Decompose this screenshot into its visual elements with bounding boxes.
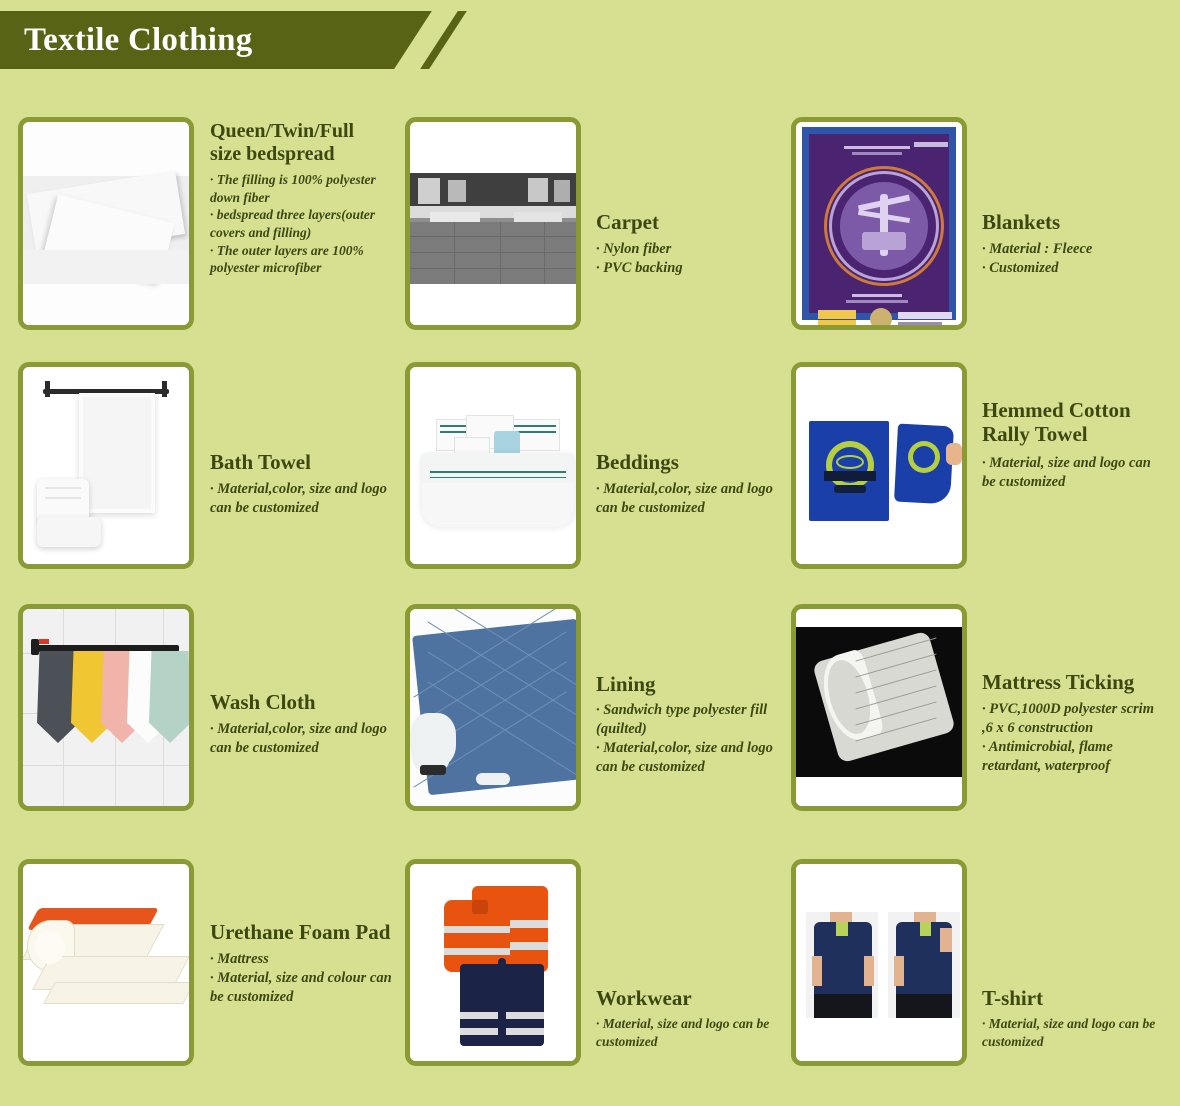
product-title: Carpet xyxy=(596,210,772,234)
bedspread-image xyxy=(23,122,189,325)
product-description: · Nylon fiber · PVC backing xyxy=(596,240,772,278)
product-description: · The filling is 100% polyester down fib… xyxy=(210,171,378,276)
product-image-frame xyxy=(18,604,194,811)
mattress-ticking-image xyxy=(796,609,962,806)
product-image-frame xyxy=(18,859,194,1066)
product-description: · Material,color, size and logo can be c… xyxy=(210,480,390,518)
blankets-image xyxy=(796,122,962,325)
product-title: Mattress Ticking xyxy=(982,670,1166,694)
product-image-frame xyxy=(405,859,581,1066)
product-title: T-shirt xyxy=(982,986,1162,1010)
carpet-image xyxy=(410,122,576,325)
product-title: Beddings xyxy=(596,450,776,474)
wash-cloth-image xyxy=(23,609,189,806)
product-title: Workwear xyxy=(596,986,776,1010)
product-description: · Material, size and logo can be customi… xyxy=(596,1015,776,1050)
lining-image xyxy=(410,609,576,806)
product-image-frame xyxy=(791,604,967,811)
product-title: Bath Towel xyxy=(210,450,390,474)
product-title: Lining xyxy=(596,672,778,696)
product-image-frame xyxy=(791,117,967,330)
product-image-frame xyxy=(405,604,581,811)
product-title: Hemmed Cotton Rally Towel xyxy=(982,398,1162,447)
product-image-frame xyxy=(405,117,581,330)
rally-towel-image xyxy=(796,367,962,564)
product-description: · Sandwich type polyester fill (quilted)… xyxy=(596,701,778,776)
product-description: · Material,color, size and logo can be c… xyxy=(596,480,776,518)
workwear-image xyxy=(410,864,576,1061)
product-image-frame xyxy=(405,362,581,569)
product-title: Queen/Twin/Full size bedspread xyxy=(210,120,378,166)
textile-clothing-catalog-page: Textile Clothing Queen/Twin/Full size be… xyxy=(0,0,1180,1106)
product-image-frame xyxy=(791,362,967,569)
product-description: · Material,color, size and logo can be c… xyxy=(210,720,390,758)
tshirt-image xyxy=(796,864,962,1061)
product-title: Wash Cloth xyxy=(210,690,390,714)
bath-towel-image xyxy=(23,367,189,564)
product-description: · PVC,1000D polyester scrim ,6 x 6 const… xyxy=(982,700,1166,775)
product-description: · Material, size and logo can be customi… xyxy=(982,1015,1162,1050)
beddings-image xyxy=(410,367,576,564)
product-image-frame xyxy=(791,859,967,1066)
page-title: Textile Clothing xyxy=(24,22,252,59)
product-title: Urethane Foam Pad xyxy=(210,920,392,944)
product-description: · Material : Fleece · Customized xyxy=(982,240,1162,278)
product-image-frame xyxy=(18,117,194,330)
product-description: · Material, size and logo can be customi… xyxy=(982,454,1162,492)
page-header-banner: Textile Clothing xyxy=(0,11,470,69)
product-description: · Mattress · Material, size and colour c… xyxy=(210,950,392,1007)
product-image-frame xyxy=(18,362,194,569)
product-title: Blankets xyxy=(982,210,1162,234)
foam-pad-image xyxy=(23,864,189,1061)
